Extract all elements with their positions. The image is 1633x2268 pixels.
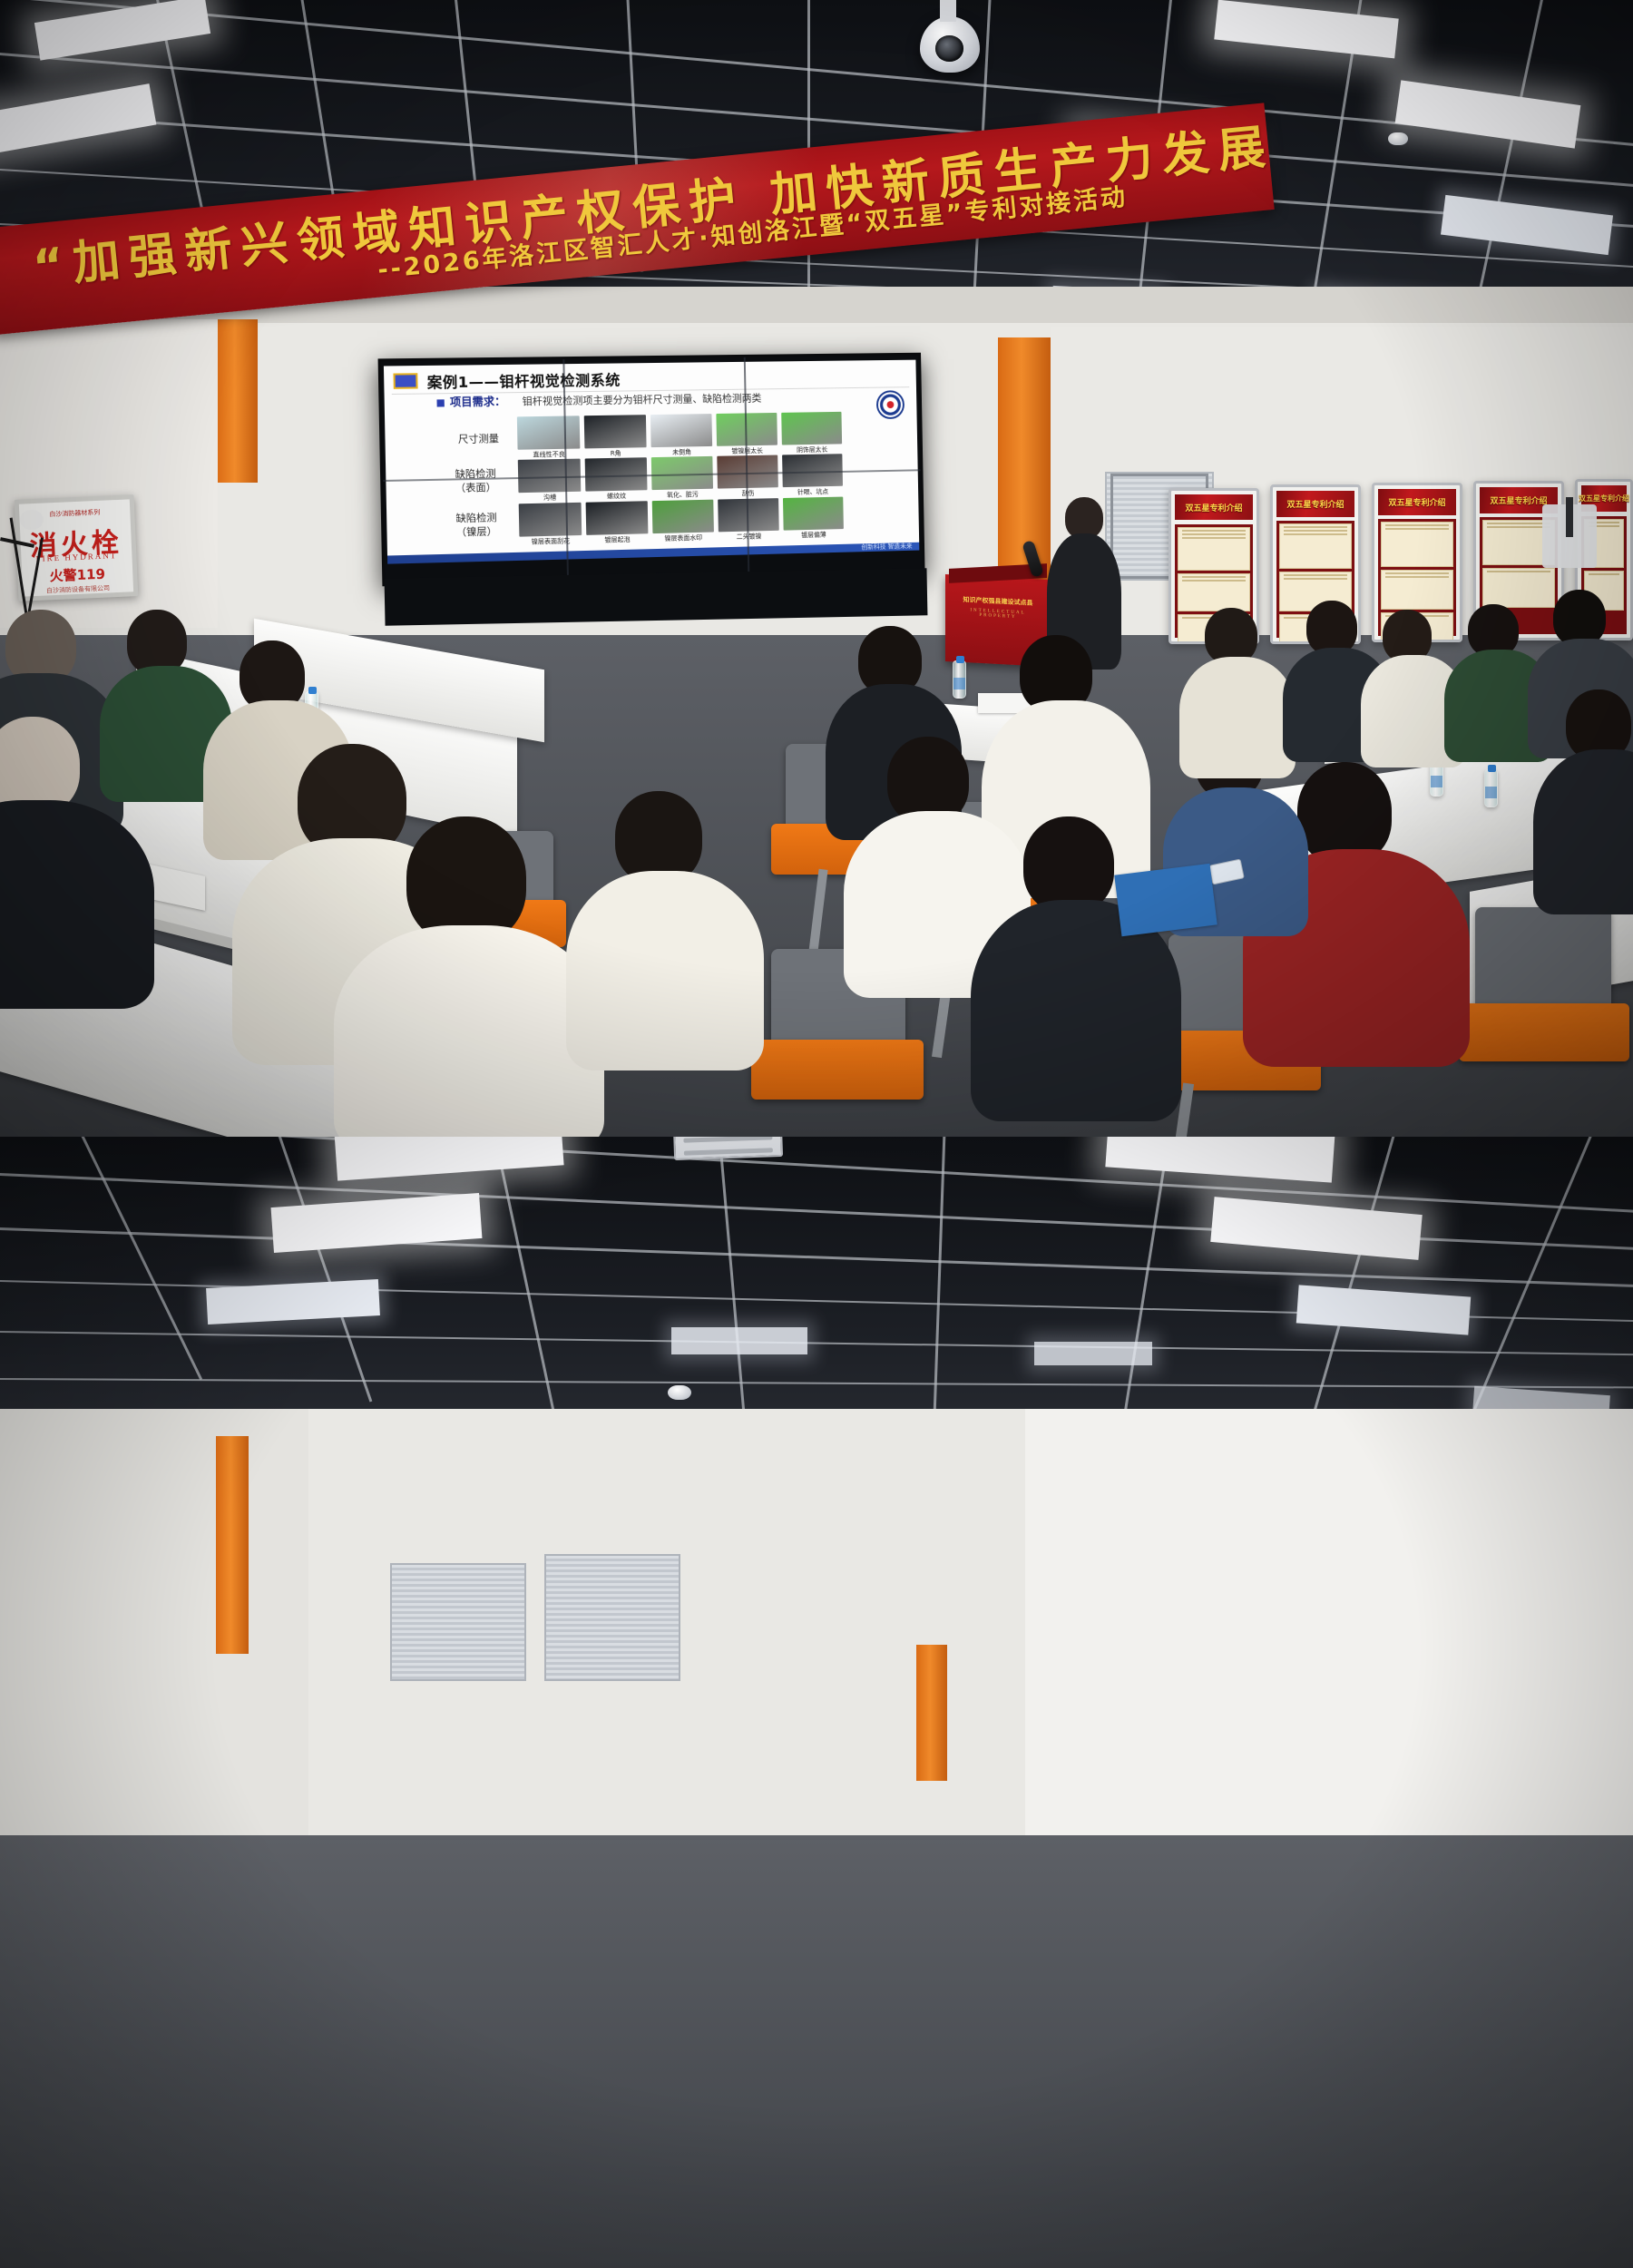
- slide-sample-cell: 阴饰层太长: [781, 412, 842, 455]
- chair-back: [1475, 907, 1611, 1016]
- podium-front-text: 知识产权强县建设试点县: [951, 594, 1045, 608]
- floor-bottom: [0, 1835, 1633, 2268]
- slide-sample-thumbnail: [584, 415, 647, 448]
- slide-row-label-1: 尺寸测量: [458, 433, 499, 447]
- slide-sample-cell: 镀层偏薄: [783, 497, 844, 541]
- slide-sample-caption: 镍层表面刮花: [519, 536, 582, 547]
- patent-board-title: 双五星专利介绍: [1286, 498, 1344, 510]
- patent-board-title: 双五星专利介绍: [1490, 494, 1547, 506]
- slide-sample-cell: 镍层表面水印: [652, 500, 714, 543]
- slide-footer-bar: 创新科技 智造未来: [387, 543, 919, 564]
- presentation-slide: 案例1——钼杆视觉检测系统 项目需求： 钼杆视觉检测项主要分为钼杆尺寸测量、缺陷…: [384, 360, 919, 564]
- slide-sample-thumbnail: [652, 500, 714, 533]
- slide-sample-cell: 未倒角: [650, 414, 712, 457]
- slide-footer-text: 创新科技 智造未来: [861, 542, 912, 552]
- slide-sample-cell: 沟槽: [518, 459, 582, 503]
- water-bottle: [1484, 769, 1498, 807]
- audience-member: [0, 717, 127, 989]
- slide-title: 案例1——钼杆视觉检测系统: [427, 367, 621, 392]
- slide-sample-thumbnail: [586, 501, 649, 535]
- audience-member: [1542, 689, 1633, 907]
- patent-board-title: 双五星专利介绍: [1579, 494, 1629, 503]
- audience-member: [356, 816, 573, 1137]
- slide-sample-caption: 镀层起泡: [586, 534, 648, 545]
- smoke-detector: [668, 1385, 691, 1400]
- slide-sample-cell: 镀层起泡: [586, 501, 649, 545]
- left-wall-bottom: [0, 1409, 308, 1881]
- brochure: [1114, 864, 1217, 936]
- ptz-dome-camera: [920, 16, 980, 73]
- chair-seat: [1459, 1003, 1629, 1061]
- pillar-left: [216, 319, 258, 483]
- slide-sample-cell: 镍层表面刮花: [519, 503, 582, 547]
- slide-sample-caption: 镀层偏薄: [784, 530, 844, 541]
- audience-member: [1366, 610, 1457, 762]
- pillar-center-bottom: [916, 1645, 947, 1781]
- slide-sample-thumbnail: [781, 412, 842, 445]
- smoke-detector: [1388, 132, 1408, 145]
- podium-sub-text: INTELLECTUAL PROPERTY: [951, 607, 1045, 621]
- patent-board-title: 双五星专利介绍: [1388, 496, 1445, 508]
- ceiling-cassette-ac: [672, 1137, 783, 1160]
- patent-board-title: 双五星专利介绍: [1185, 502, 1242, 513]
- slide-sample-cell: 氧化、脏污: [651, 456, 713, 500]
- slide-row-label-3: 缺陷检测 （镍层）: [455, 512, 497, 540]
- slide-sample-caption: 螺纹纹: [585, 491, 647, 501]
- chair-seat: [751, 1040, 924, 1100]
- audience-member: [1185, 608, 1285, 771]
- slide-bullet-text: 钼杆视觉检测项主要分为钼杆尺寸测量、缺陷检测两类: [522, 390, 761, 408]
- water-bottle: [953, 660, 966, 699]
- slide-sample-thumbnail: [517, 415, 581, 449]
- slide-sample-caption: 沟槽: [518, 493, 581, 503]
- slide-accent-square: [393, 373, 417, 389]
- tripod-head: [20, 510, 44, 530]
- photo-top-panel: “加强新兴领域知识产权保护 加快新质生产力发展” --2026年洛江区智汇人才·…: [0, 0, 1633, 1137]
- slide-sample-thumbnail: [783, 497, 844, 531]
- slide-row-label-2: 缺陷检测 （表面）: [455, 467, 496, 495]
- slide-sample-caption: 氧化、脏污: [652, 490, 714, 500]
- video-wall-display: 案例1——钼杆视觉检测系统 项目需求： 钼杆视觉检测项主要分为钼杆尺寸测量、缺陷…: [378, 353, 925, 587]
- slide-sample-caption: 镍层表面水印: [652, 533, 714, 543]
- window-blind: [544, 1554, 680, 1681]
- slide-sample-cell: 针眼、坑点: [782, 454, 843, 497]
- slide-sample-cell: 螺纹纹: [585, 457, 648, 501]
- camera-lens: [935, 35, 963, 62]
- pillar-left-bottom: [216, 1436, 249, 1654]
- slide-bullet-icon: [436, 399, 444, 406]
- slide-sample-caption: 针眼、坑点: [783, 487, 843, 497]
- slide-bullet-label: 项目需求：: [450, 393, 506, 409]
- slide-sample-thumbnail: [519, 503, 582, 537]
- slide-sample-cell: R角: [584, 415, 647, 458]
- slide-sample-cell: 直线性不良: [517, 415, 581, 460]
- audience-member: [987, 816, 1159, 1116]
- audience-member: [581, 791, 744, 1063]
- slide-sample-thumbnail: [650, 414, 712, 447]
- company-emblem-icon: [876, 390, 905, 419]
- microscope-arm: [1566, 497, 1573, 537]
- window-blind: [390, 1563, 526, 1681]
- photo-bottom-panel: 质生产力 发展” “双五星”专利对接活动 双五星专利介绍 双五星专利介绍 双五星…: [0, 1137, 1633, 2268]
